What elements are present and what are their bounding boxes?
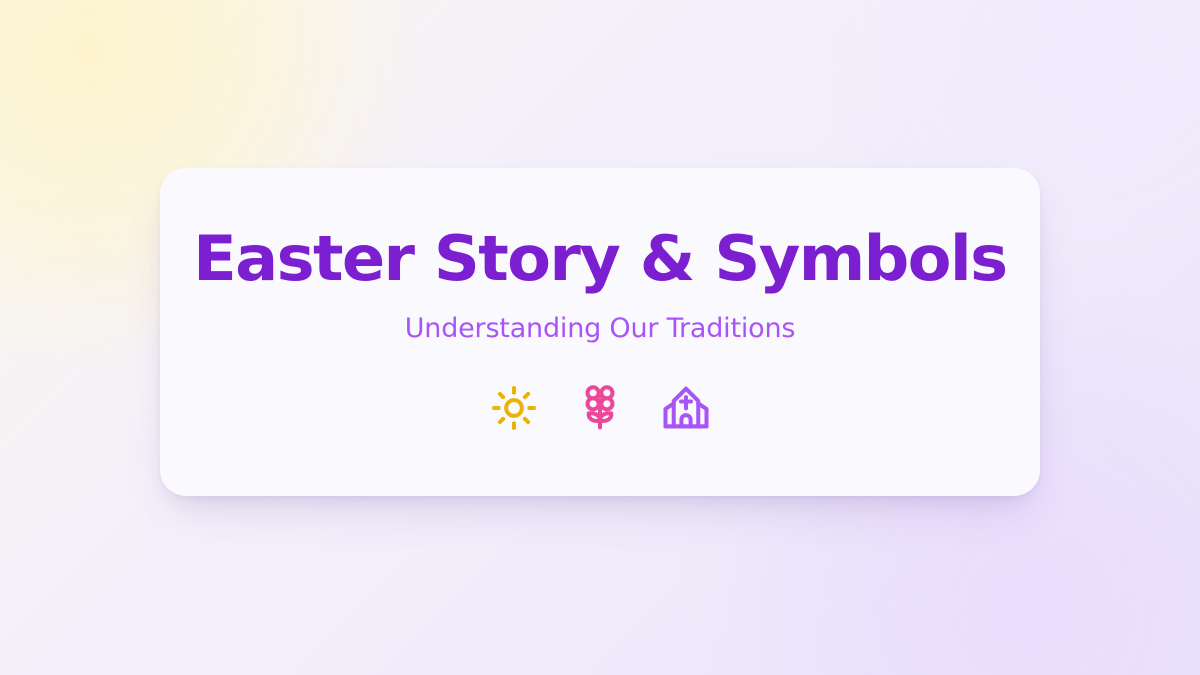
church-icon [660,382,712,434]
flower-icon [574,382,626,434]
symbol-icon-row [488,382,712,434]
flower-icon-glyph [577,384,623,432]
slide-subtitle: Understanding Our Traditions [405,313,796,344]
church-icon-glyph [661,385,711,431]
title-card: Easter Story & Symbols Understanding Our… [160,168,1040,496]
sun-icon-glyph [491,385,537,431]
slide-stage: Easter Story & Symbols Understanding Our… [0,0,1200,675]
slide-title: Easter Story & Symbols [193,227,1006,290]
sun-icon [488,382,540,434]
